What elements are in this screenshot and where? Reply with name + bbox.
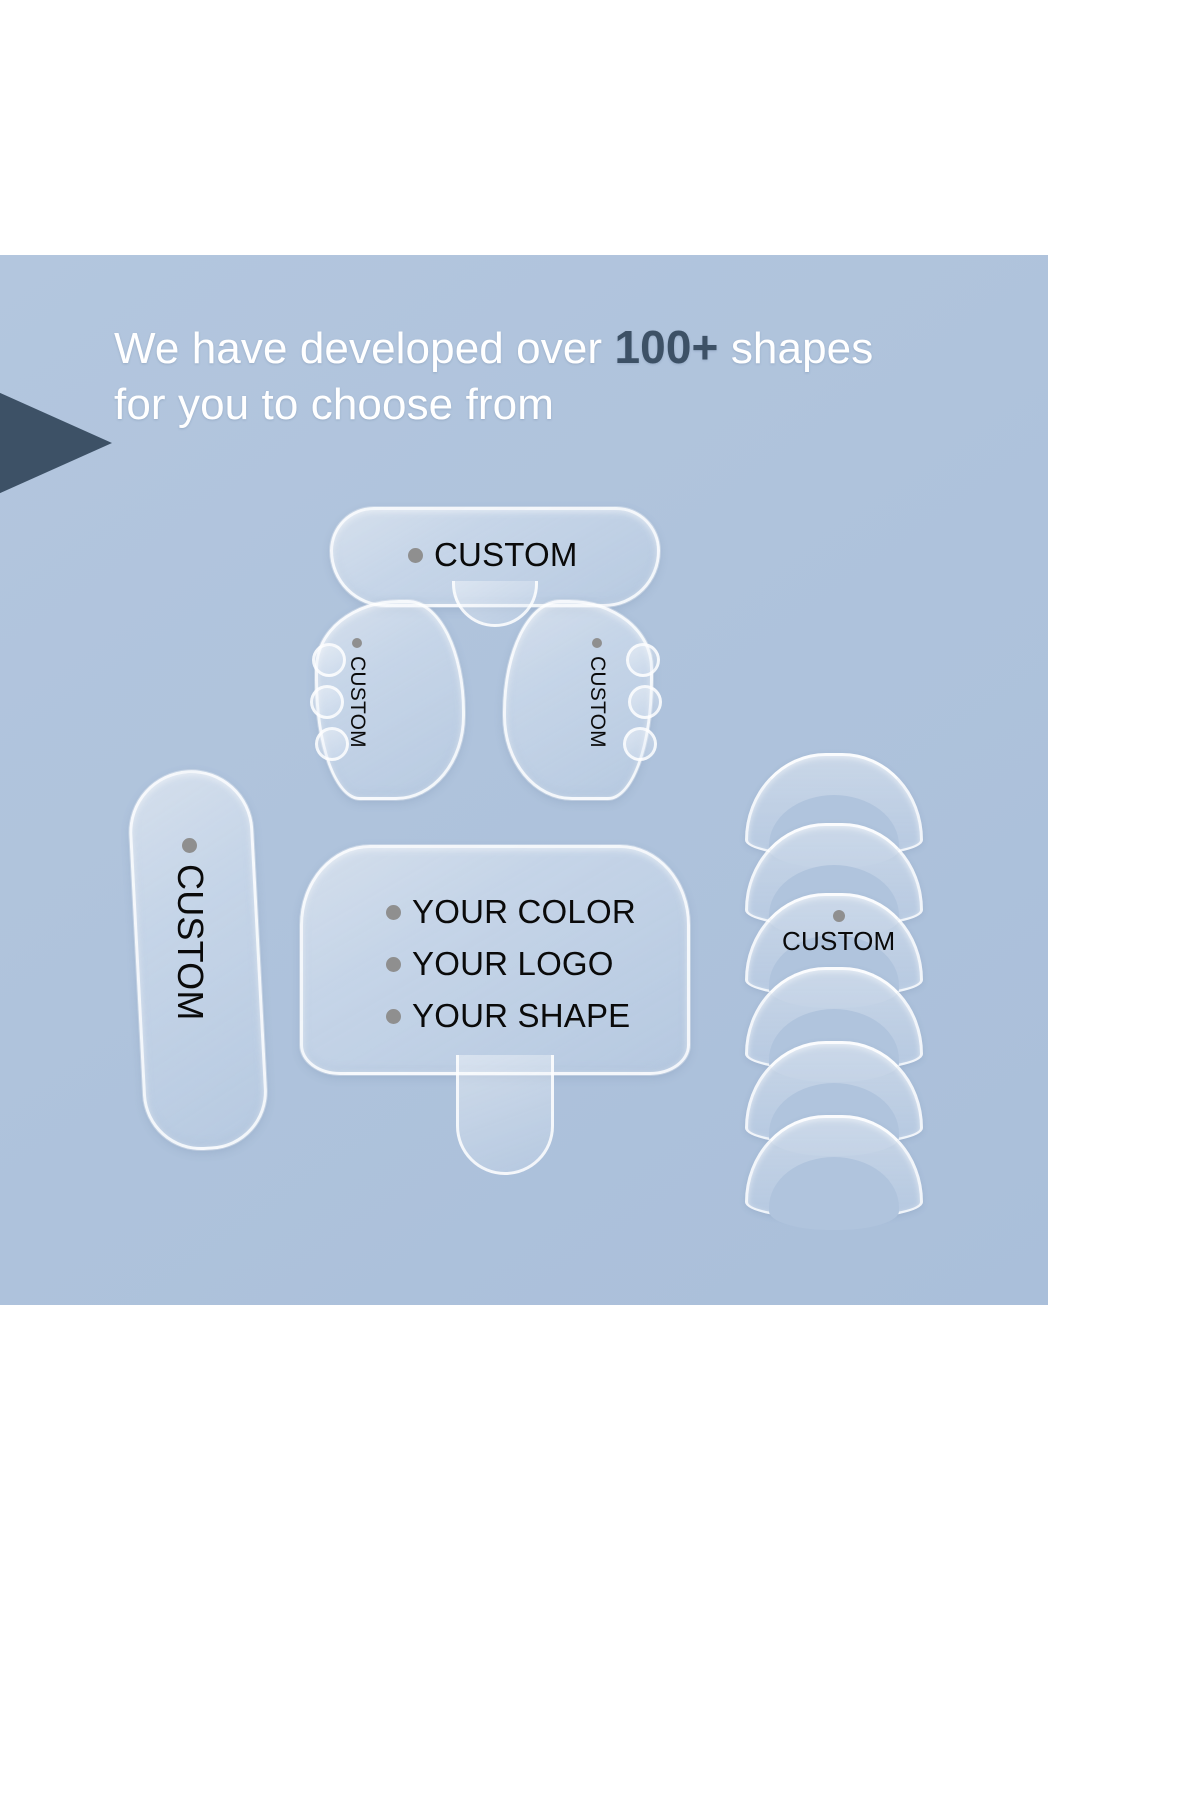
label-text: CUSTOM xyxy=(782,926,895,957)
headline-line-2: for you to choose from xyxy=(114,377,974,433)
headline-text-before: We have developed over xyxy=(114,324,614,373)
bullet-dot-icon xyxy=(386,905,401,920)
list-item: YOUR SHAPE xyxy=(386,997,636,1035)
label-text: CUSTOM xyxy=(169,864,211,1021)
silicone-pad-top-notch xyxy=(452,581,538,627)
label-text: YOUR SHAPE xyxy=(412,997,630,1035)
list-item: YOUR LOGO xyxy=(386,945,636,983)
bullet-dot-icon xyxy=(183,838,198,853)
headline-highlight-number: 100+ xyxy=(614,321,718,373)
label-wing-left: CUSTOM xyxy=(345,638,369,748)
label-top-pad: CUSTOM xyxy=(408,536,578,574)
bullet-dot-icon xyxy=(592,638,602,648)
wing-left-scallop-2 xyxy=(310,685,344,719)
silicone-pad-body-tail xyxy=(456,1055,554,1175)
wing-right-scallop-2 xyxy=(628,685,662,719)
navy-arrow-accent xyxy=(0,375,112,511)
wing-right-scallop-3 xyxy=(623,727,657,761)
main-blue-panel: We have developed over 100+ shapes for y… xyxy=(0,255,1048,1305)
bullet-dot-icon xyxy=(833,910,845,922)
label-text: YOUR COLOR xyxy=(412,893,636,931)
body-pad-feature-list: YOUR COLOR YOUR LOGO YOUR SHAPE xyxy=(386,893,636,1035)
label-text: CUSTOM xyxy=(585,656,609,748)
poster-canvas: We have developed over 100+ shapes for y… xyxy=(0,0,1200,1800)
headline-text-after: shapes xyxy=(719,324,874,373)
label-crescent-stack: CUSTOM xyxy=(782,910,895,957)
bullet-dot-icon xyxy=(352,638,362,648)
wing-left-scallop-3 xyxy=(315,727,349,761)
bullet-dot-icon xyxy=(386,957,401,972)
page-title: We have developed over 100+ shapes for y… xyxy=(114,318,974,434)
label-wand-pad: CUSTOM xyxy=(169,838,211,1021)
label-wing-right: CUSTOM xyxy=(585,638,609,748)
label-text: CUSTOM xyxy=(434,536,578,574)
wing-left-scallop-1 xyxy=(312,643,346,677)
label-text: CUSTOM xyxy=(345,656,369,748)
list-item: YOUR COLOR xyxy=(386,893,636,931)
bullet-dot-icon xyxy=(386,1009,401,1024)
headline-line-1: We have developed over 100+ shapes xyxy=(114,318,974,377)
bullet-dot-icon xyxy=(408,548,423,563)
wing-right-scallop-1 xyxy=(626,643,660,677)
label-text: YOUR LOGO xyxy=(412,945,614,983)
